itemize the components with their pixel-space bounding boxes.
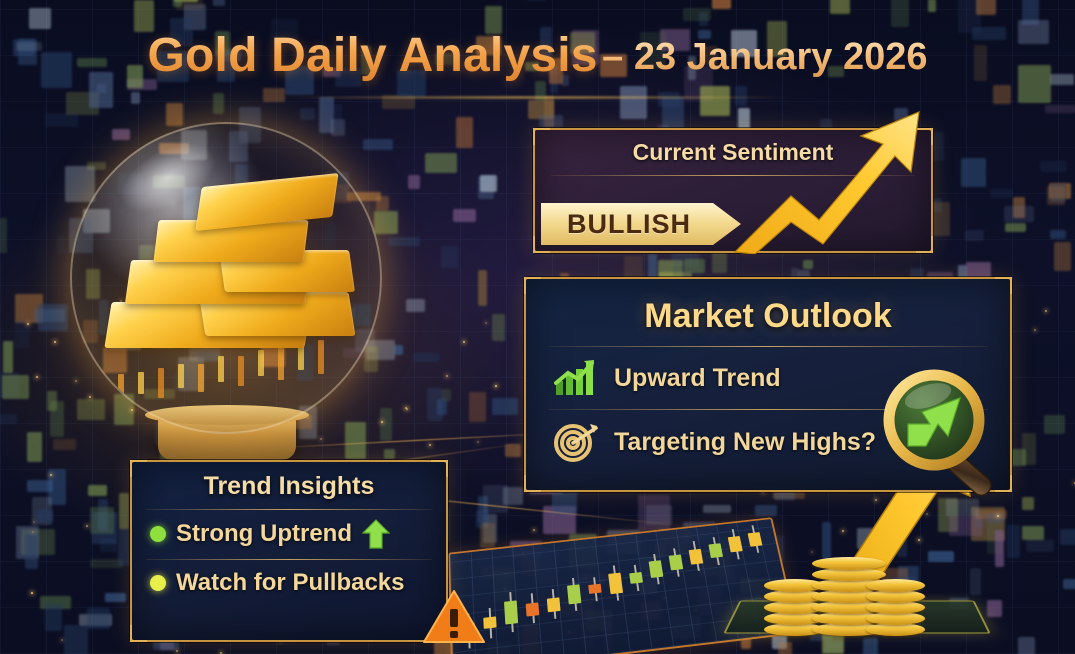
panel-corner-notch (524, 277, 541, 294)
candle-body (567, 584, 581, 604)
mosaic-tile (34, 309, 65, 322)
outlook-heading: Market Outlook (526, 279, 1010, 336)
mosaic-tile (456, 117, 472, 147)
mosaic-tile (45, 604, 62, 631)
mosaic-tile (1022, 497, 1034, 510)
title-underglow (278, 96, 798, 99)
mosaic-tile (1026, 539, 1054, 552)
mosaic-tile (492, 398, 518, 415)
mosaic-tile (47, 391, 58, 411)
mosaic-tile (527, 0, 546, 1)
candle-body (669, 555, 684, 571)
mosaic-tile (427, 388, 443, 421)
mosaic-tile (213, 0, 225, 6)
trend-insights-panel: Trend Insights Strong Uptrend Watch for … (130, 460, 448, 642)
sparkle (33, 521, 35, 523)
poster-canvas: Gold Daily Analysis – 23 January 2026 (0, 0, 1075, 654)
outlook-row-label: Targeting New Highs? (614, 428, 876, 457)
mosaic-tile (539, 115, 563, 126)
insight-row-watch-for-pullbacks: Watch for Pullbacks (132, 560, 446, 597)
mosaic-tile (441, 246, 457, 269)
mosaic-tile (1022, 526, 1044, 541)
sparkle (27, 323, 29, 325)
mosaic-tile (993, 85, 1011, 104)
mosaic-tile (300, 108, 315, 121)
mosaic-tile (1044, 415, 1065, 434)
mosaic-tile (620, 86, 646, 118)
mosaic-tile (1047, 186, 1065, 205)
sparkle (86, 525, 88, 527)
mosaic-tile (778, 642, 792, 654)
insight-row-label: Watch for Pullbacks (176, 569, 405, 597)
mosaic-tile (408, 175, 420, 189)
candle-body (629, 572, 643, 584)
mosaic-tile (1054, 242, 1072, 270)
mosaic-tile (90, 507, 114, 534)
gold-coin (866, 579, 925, 592)
mosaic-tile (27, 432, 41, 462)
insights-heading: Trend Insights (132, 462, 446, 501)
mosaic-tile (27, 480, 53, 492)
sparkle (36, 376, 38, 378)
panel-corner-notch (431, 460, 448, 477)
mosaic-tile (442, 389, 451, 402)
mosaic-tile (118, 528, 131, 565)
mosaic-tile (1007, 525, 1020, 558)
mosaic-tile (712, 0, 730, 9)
mosaic-tile (1050, 230, 1066, 239)
panel-corner-notch (524, 475, 541, 492)
mosaic-tile (388, 237, 420, 246)
insight-row-label: Strong Uptrend (176, 520, 352, 548)
mosaic-tile (1022, 433, 1036, 465)
sparkle (31, 592, 33, 594)
orange-warning-triangle-icon (422, 588, 486, 646)
gold-coin (812, 557, 886, 570)
gold-bar (195, 173, 338, 231)
mosaic-tile (928, 0, 936, 12)
green-up-arrow-icon (362, 519, 390, 549)
mosaic-tile (453, 209, 476, 221)
candle-body (708, 543, 723, 558)
sparkle (50, 474, 52, 476)
mosaic-tile (88, 485, 107, 496)
gold-coin-stacks-graphic (760, 505, 940, 635)
mosaic-tile (64, 625, 88, 654)
mosaic-tile (961, 158, 987, 187)
current-sentiment-panel: Current Sentiment BULLISH (533, 128, 933, 253)
mosaic-tile (863, 638, 878, 654)
mosaic-tile (1018, 637, 1035, 654)
title-main: Gold Daily Analysis (148, 29, 598, 82)
sentiment-value-ribbon: BULLISH (541, 203, 741, 245)
mosaic-tile (891, 0, 909, 27)
mosaic-tile (469, 392, 485, 422)
mosaic-tile (803, 260, 813, 270)
candle-body (588, 584, 601, 595)
magnifying-glass-green-arrow-icon (878, 368, 1018, 513)
sparkle (997, 515, 999, 517)
mosaic-tile (1063, 579, 1075, 589)
mosaic-tile (1005, 223, 1026, 232)
panel-corner-notch (995, 277, 1012, 294)
mosaic-tile (0, 218, 7, 253)
mosaic-tile (105, 593, 127, 602)
mosaic-tile (413, 353, 439, 361)
mosaic-tile (683, 8, 711, 20)
outlook-row-label: Upward Trend (614, 364, 781, 393)
mosaic-tile (1060, 529, 1075, 544)
mosaic-tile (480, 175, 496, 192)
mosaic-tile (995, 530, 1004, 567)
candle-body (649, 560, 664, 578)
mosaic-tile (1040, 161, 1067, 171)
mosaic-tile (1045, 105, 1075, 113)
mosaic-tile (492, 314, 505, 341)
panel-corner-notch (533, 128, 550, 145)
mosaic-tile (29, 8, 51, 29)
mosaic-tile (483, 485, 509, 513)
mosaic-tile (830, 0, 850, 14)
mosaic-tile (131, 92, 140, 105)
mosaic-tile (480, 523, 495, 547)
mosaic-tile (25, 534, 38, 569)
mosaic-tile (213, 93, 224, 113)
sentiment-value: BULLISH (541, 209, 691, 240)
sparkle (32, 531, 34, 533)
mosaic-tile (638, 495, 670, 530)
candle-body (526, 602, 540, 617)
mosaic-tile (0, 414, 17, 424)
mosaic-tile (505, 444, 520, 457)
insight-bullet (150, 575, 166, 591)
candle-body (689, 549, 704, 564)
panel-corner-notch (130, 460, 147, 477)
mosaic-tile (173, 0, 181, 7)
mosaic-tile (478, 270, 486, 306)
mosaic-tile (965, 230, 984, 241)
mosaic-tile (87, 608, 110, 629)
mosaic-tile (425, 153, 457, 173)
mosaic-tile (976, 0, 996, 15)
sparkle (477, 441, 479, 443)
mosaic-tile (1004, 206, 1033, 221)
mosaic-tile (700, 86, 730, 116)
page-title: Gold Daily Analysis – 23 January 2026 (0, 28, 1075, 83)
title-date: – 23 January 2026 (602, 36, 927, 78)
mosaic-tile (394, 345, 402, 355)
insight-bullet (150, 526, 166, 542)
green-bar-chart-up-icon (554, 359, 598, 397)
rising-gold-arrow-icon (733, 104, 933, 254)
insight-row-strong-uptrend: Strong Uptrend (132, 510, 446, 549)
candle-body (504, 601, 518, 625)
mosaic-tile (703, 505, 731, 513)
mosaic-tile (2, 375, 29, 399)
mosaic-tile (100, 539, 117, 551)
mosaic-tile (3, 341, 13, 373)
mosaic-tile (658, 92, 680, 107)
candle-body (728, 536, 743, 553)
mosaic-tile (37, 510, 53, 522)
crystal-ball-graphic (62, 122, 392, 462)
sparkle (533, 529, 535, 531)
mosaic-tile (684, 259, 704, 273)
candle-body (608, 572, 623, 593)
sparkle (61, 639, 63, 641)
mosaic-tile (990, 189, 1014, 198)
candle-body (547, 598, 561, 613)
gold-target-bullseye-icon (554, 422, 598, 462)
crystal-ball-sphere (70, 122, 382, 434)
mosaic-tile (263, 88, 284, 102)
panel-corner-notch (130, 625, 147, 642)
mosaic-tile (406, 299, 425, 313)
sparkle (429, 444, 431, 446)
